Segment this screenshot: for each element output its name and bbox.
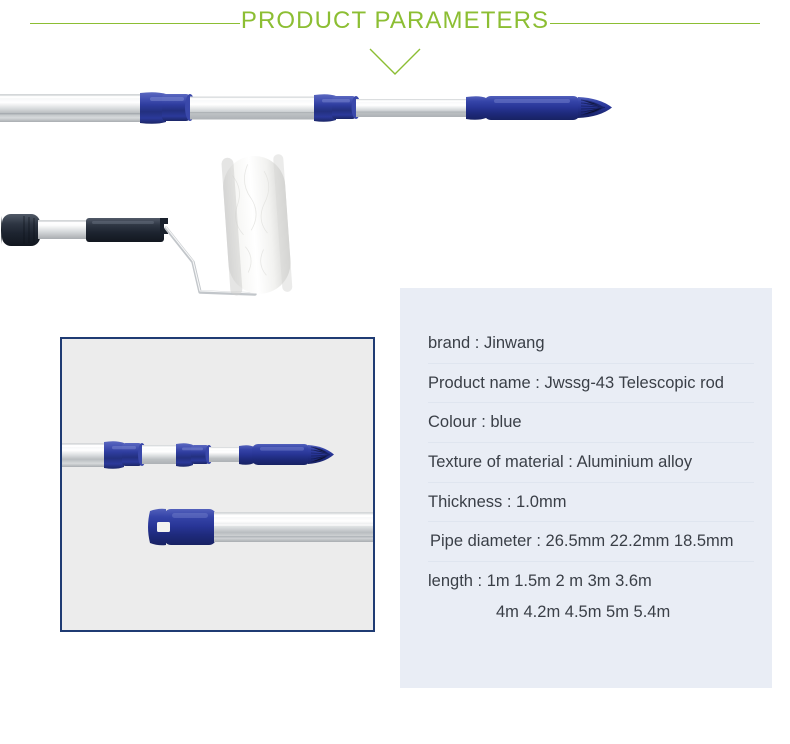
product-parameters-panel: brand : Jinwang Product name : Jwssg-43 … — [400, 288, 772, 688]
telescopic-pole-detail-image — [62, 339, 373, 630]
parameter-row-brand: brand : Jinwang — [428, 324, 754, 364]
page-header: PRODUCT PARAMETERS — [0, 0, 790, 46]
parameters-list: brand : Jinwang Product name : Jwssg-43 … — [428, 324, 754, 632]
paint-roller-image — [0, 150, 312, 312]
parameter-length-line-1: length : 1m 1.5m 2 m 3m 3.6m — [428, 572, 652, 590]
parameter-length-line-2: 4m 4.2m 4.5m 5m 5.4m — [428, 591, 754, 623]
parameter-row-colour: Colour : blue — [428, 403, 754, 443]
page-title: PRODUCT PARAMETERS — [0, 7, 790, 35]
product-detail-photo — [60, 337, 375, 632]
parameter-row-product-name: Product name : Jwssg-43 Telescopic rod — [428, 364, 754, 404]
parameter-row-length: length : 1m 1.5m 2 m 3m 3.6m 4m 4.2m 4.5… — [428, 562, 754, 632]
chevron-down-icon — [369, 48, 421, 76]
parameter-row-texture-of-material: Texture of material : Aluminium alloy — [428, 443, 754, 483]
parameter-row-thickness: Thickness : 1.0mm — [428, 483, 754, 523]
telescopic-pole-image — [0, 84, 712, 142]
parameter-row-pipe-diameter: Pipe diameter : 26.5mm 22.2mm 18.5mm — [428, 522, 754, 562]
